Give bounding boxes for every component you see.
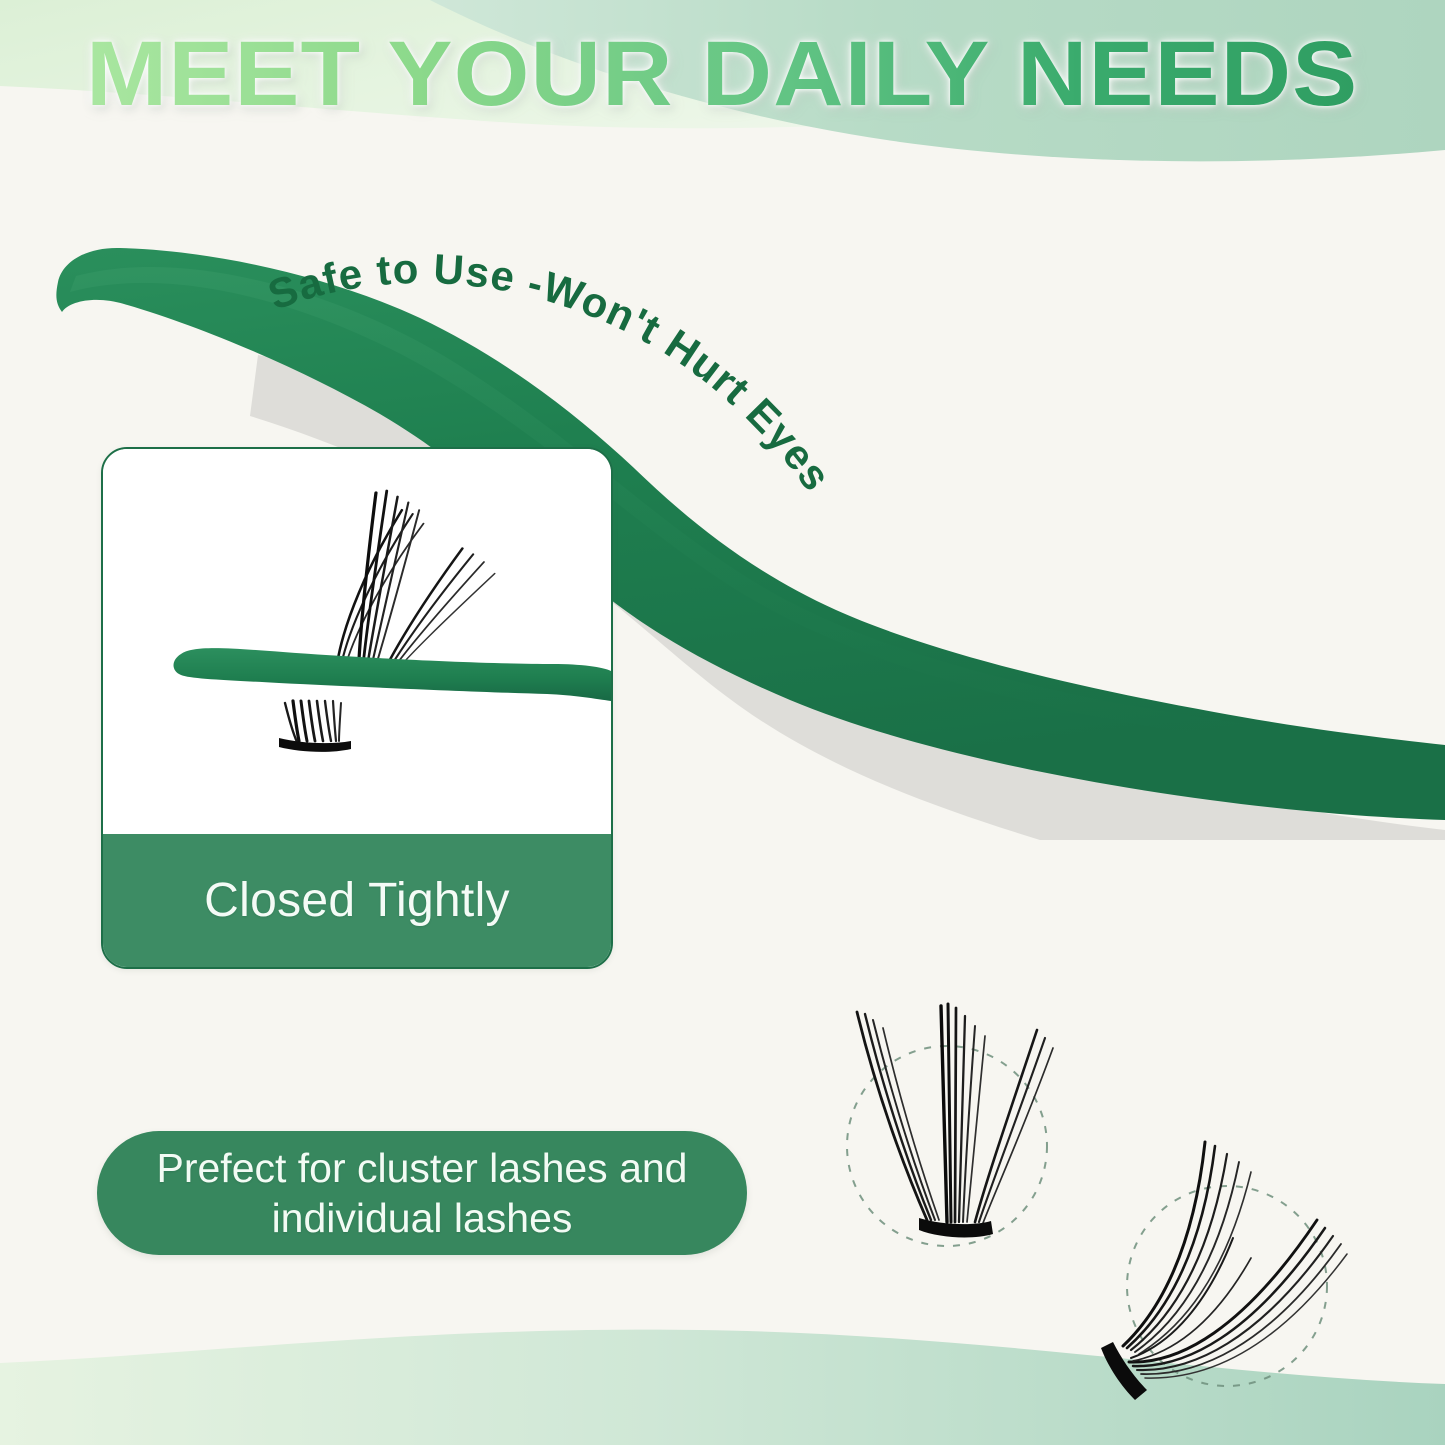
page-title: MEET YOUR DAILY NEEDS xyxy=(0,28,1445,120)
infographic-canvas: MEET YOUR DAILY NEEDS Safe to Use -W xyxy=(0,0,1445,1445)
feature-card-closed-tightly: Closed Tightly xyxy=(101,447,613,969)
lash-grip-illustration xyxy=(103,449,611,834)
feature-badge-text: Prefect for cluster lashes and individua… xyxy=(97,1143,747,1243)
card-caption-bar: Closed Tightly xyxy=(103,834,611,967)
card-caption-text: Closed Tightly xyxy=(204,873,510,928)
lash-fan-upper xyxy=(337,491,495,667)
dashed-circle-accent xyxy=(1127,1186,1327,1386)
card-visual-lash-grip xyxy=(103,449,611,834)
feature-badge: Prefect for cluster lashes and individua… xyxy=(97,1131,747,1255)
lash-strands xyxy=(857,1004,1053,1223)
cluster-lash-angled-illustration xyxy=(1075,1118,1395,1418)
lash-strands xyxy=(1123,1142,1347,1378)
lash-base-lower xyxy=(279,701,351,752)
page-title-text: MEET YOUR DAILY NEEDS xyxy=(86,28,1358,120)
cluster-lash-straight-illustration xyxy=(795,978,1095,1268)
